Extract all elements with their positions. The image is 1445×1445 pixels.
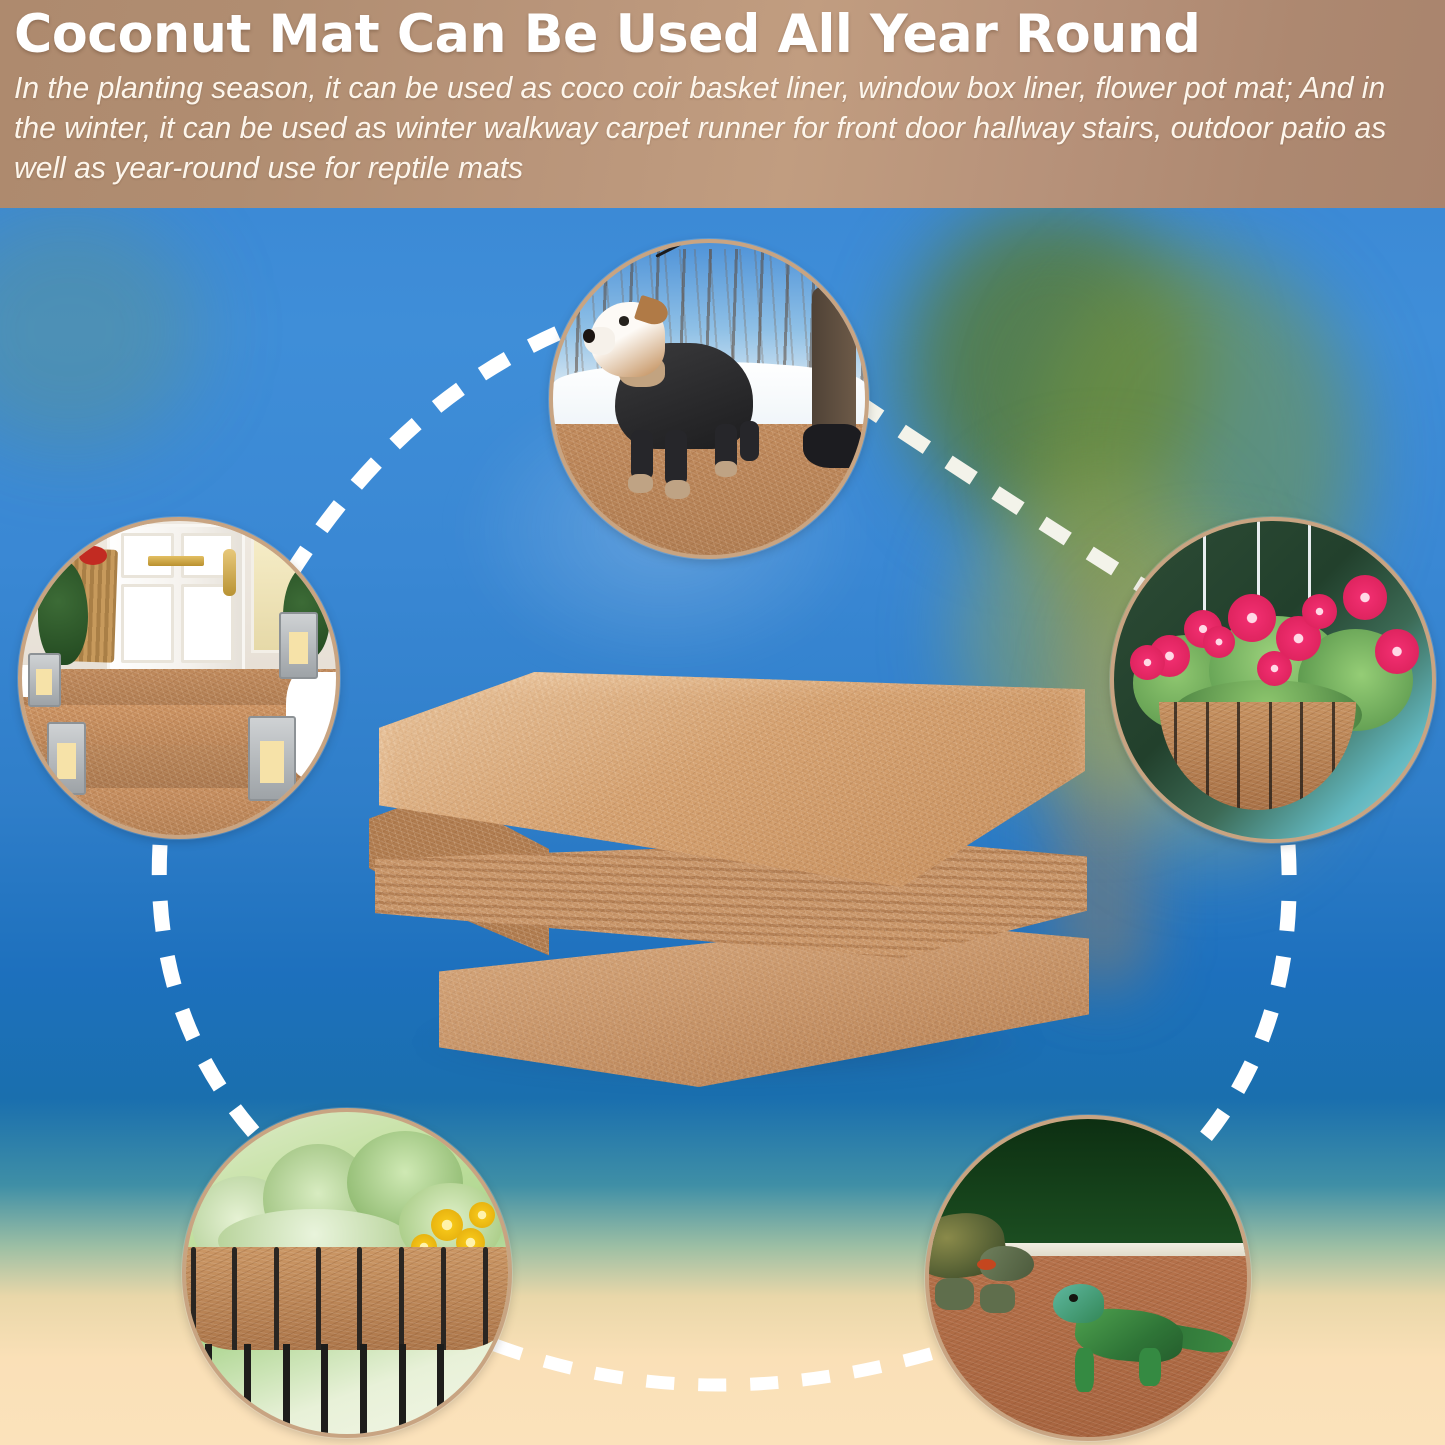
iron-railing (186, 1344, 508, 1434)
planter-wire-7 (441, 1247, 446, 1350)
door-panel-br (181, 584, 234, 662)
person-boot (803, 424, 862, 468)
lizard-front-leg (1075, 1348, 1094, 1393)
turtle-front-leg (935, 1278, 973, 1310)
dog-front-leg (631, 430, 653, 480)
basket-wire-rib-5 (1300, 702, 1303, 810)
header-band: Coconut Mat Can Be Used All Year Round I… (0, 0, 1445, 208)
door-panel-bl (121, 584, 174, 662)
railing-bar-2 (244, 1344, 251, 1434)
basket-wire-rib-6 (1332, 702, 1335, 810)
lizard-head (1053, 1284, 1104, 1322)
dog-scene (553, 243, 865, 555)
railing-bar-5 (360, 1344, 367, 1434)
dog-paw-1 (628, 474, 653, 493)
window-box-scene (186, 1112, 508, 1434)
railing-bar-3 (283, 1344, 290, 1434)
petunia-bloom-6 (1343, 575, 1388, 620)
basket-wire-rib-1 (1174, 702, 1177, 810)
planter-wire-6 (399, 1247, 404, 1350)
dog-front-leg-2 (665, 430, 687, 486)
lantern-top-left (28, 653, 60, 707)
petunia-bloom-8 (1130, 645, 1165, 680)
turtle-red-ear-spot (977, 1259, 996, 1270)
railing-bar-4 (321, 1344, 328, 1434)
front-door-scene (22, 521, 336, 835)
brass-mail-slot (148, 556, 205, 566)
callout-front-door-coir-stair-runner[interactable] (18, 517, 340, 839)
lantern-top-right (279, 612, 318, 679)
planter-wire-5 (357, 1247, 362, 1350)
callout-window-box-coir-liner[interactable] (182, 1108, 512, 1438)
hanging-basket-scene (1114, 521, 1432, 839)
planter-wire-2 (232, 1247, 237, 1350)
basket-chain-left (1203, 527, 1206, 616)
planter-wire-4 (316, 1247, 321, 1350)
planter-wire-8 (483, 1247, 488, 1350)
red-bow (79, 546, 107, 565)
railing-bar-1 (205, 1344, 212, 1434)
dog-nose (583, 329, 595, 343)
railing-bar-6 (399, 1344, 406, 1434)
petunia-bloom-10 (1203, 626, 1235, 658)
callout-hanging-basket-coir-liner[interactable] (1110, 517, 1436, 843)
basket-wire-rib-4 (1269, 702, 1272, 810)
dog-paw-2 (665, 480, 690, 499)
basket-wire-rib-3 (1237, 702, 1240, 810)
planter-wire-3 (274, 1247, 279, 1350)
header-subtitle: In the planting season, it can be used a… (14, 68, 1388, 188)
basket-wire-rib-2 (1206, 702, 1209, 810)
petunia-bloom-5 (1302, 594, 1337, 629)
yellow-flower-4 (469, 1202, 495, 1228)
basket-chain-center (1257, 521, 1260, 604)
petunia-bloom-3 (1228, 594, 1276, 642)
product-folded-coconut-coir-mat[interactable] (369, 672, 1095, 1096)
dog-paw-3 (715, 461, 737, 477)
lantern-bottom-left (47, 722, 86, 795)
brass-door-handle (223, 549, 236, 596)
lizard-rear-leg (1139, 1348, 1161, 1386)
callout-reptile-coir-mat[interactable] (925, 1115, 1251, 1441)
callout-dog-on-coir-mat-winter[interactable] (549, 239, 869, 559)
reptile-scene (929, 1119, 1247, 1437)
railing-bar-7 (437, 1344, 444, 1434)
turtle-rear-leg (980, 1284, 1015, 1313)
petunia-bloom-7 (1375, 629, 1420, 674)
coir-window-box-liner (182, 1247, 512, 1350)
lantern-bottom-right (248, 716, 296, 802)
dog-rear-leg-2 (740, 421, 759, 462)
person-leg (812, 287, 856, 443)
page-title: Coconut Mat Can Be Used All Year Round (14, 2, 1410, 68)
dog-eye (619, 316, 630, 325)
infographic-canvas: Coconut Mat Can Be Used All Year Round I… (0, 0, 1445, 1445)
white-front-door (107, 524, 245, 675)
planter-wire-1 (191, 1247, 196, 1350)
